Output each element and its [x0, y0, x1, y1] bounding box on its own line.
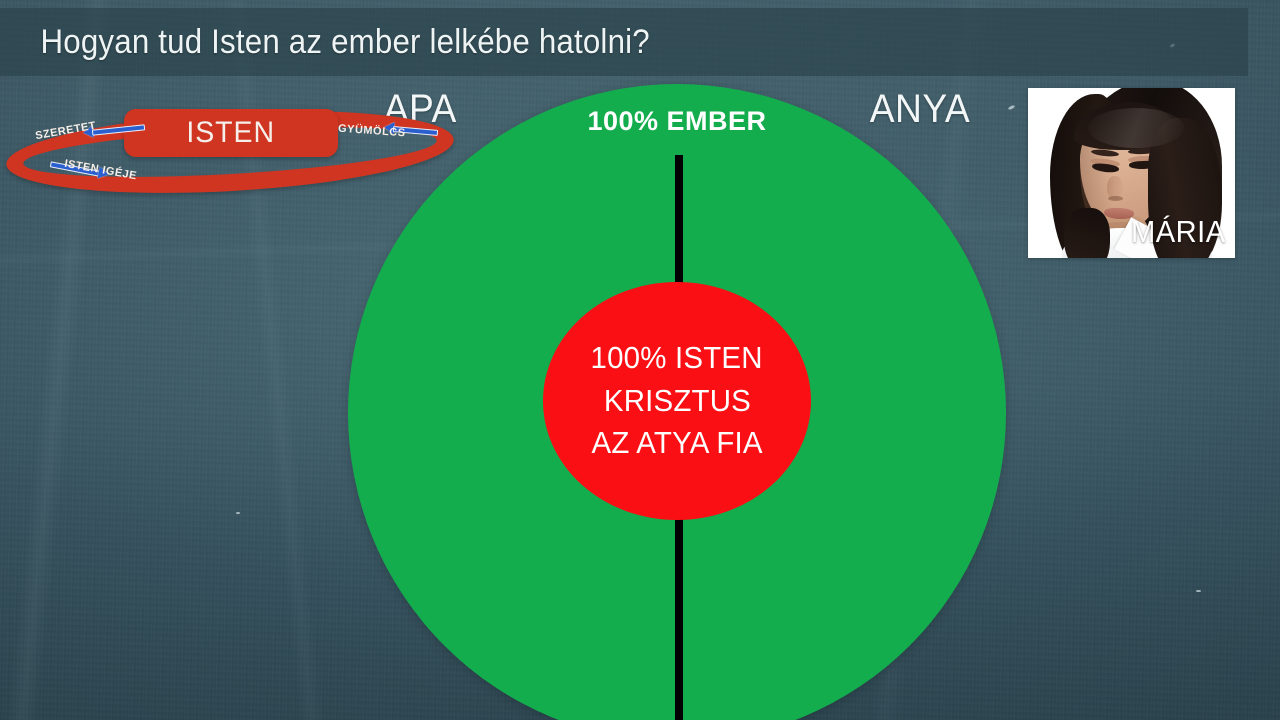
god-cycle-diagram: ISTEN SZERETET GYÜMÖLCS ISTEN IGÉJE — [0, 96, 465, 206]
divine-nature-ellipse: 100% ISTEN KRISZTUS AZ ATYA FIA — [543, 282, 811, 520]
title-band: Hogyan tud Isten az ember lelkébe hatoln… — [0, 8, 1248, 76]
background-speck — [236, 512, 240, 514]
divine-line-1: 100% ISTEN — [591, 338, 763, 379]
divine-line-3: AZ ATYA FIA — [591, 423, 762, 464]
maria-label: MÁRIA — [1131, 214, 1226, 250]
background-speck — [1196, 590, 1201, 592]
divine-line-2: KRISZTUS — [603, 381, 750, 422]
god-box: ISTEN — [124, 109, 338, 157]
god-box-label: ISTEN — [187, 116, 276, 150]
mother-label: ANYA — [870, 87, 970, 132]
slide-canvas: Hogyan tud Isten az ember lelkébe hatoln… — [0, 0, 1280, 720]
page-title: Hogyan tud Isten az ember lelkébe hatoln… — [0, 23, 650, 62]
